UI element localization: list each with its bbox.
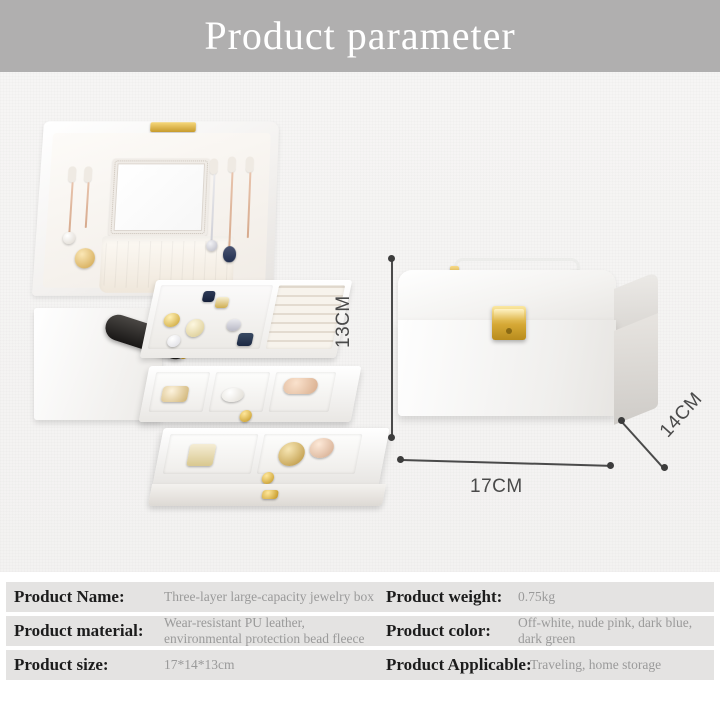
spec-label: Product weight: bbox=[386, 587, 502, 607]
flower-brooch bbox=[162, 313, 181, 327]
product-photo-area: 13CM 17CM 14CM bbox=[0, 72, 720, 572]
spec-label: Product Name: bbox=[14, 587, 125, 607]
spec-label: Product material: bbox=[14, 621, 144, 641]
spec-cell-color: Product color: Off-white, nude pink, dar… bbox=[386, 616, 716, 646]
necklace-chain bbox=[68, 182, 73, 236]
drawer-upper[interactable] bbox=[139, 366, 362, 422]
dimension-endpoint-dot bbox=[607, 462, 614, 469]
spec-value: 0.75kg bbox=[518, 589, 718, 605]
spec-cell-material: Product material: Wear-resistant PU leat… bbox=[14, 616, 384, 646]
drawer-compartment bbox=[257, 434, 363, 474]
lid-lining bbox=[43, 133, 271, 288]
spec-value: 17*14*13cm bbox=[164, 657, 384, 673]
dimension-endpoint-dot bbox=[388, 255, 395, 262]
necklace-chain bbox=[210, 174, 215, 244]
spec-value: Off-white, nude pink, dark blue, dark gr… bbox=[518, 615, 718, 647]
dimension-endpoint-dot bbox=[618, 417, 625, 424]
earring-item bbox=[214, 297, 229, 308]
spec-cell-size: Product size: 17*14*13cm bbox=[14, 650, 384, 680]
jewelry-item bbox=[282, 378, 319, 394]
base-clasp-icon bbox=[261, 490, 279, 499]
blue-gem-item bbox=[236, 333, 254, 346]
necklace-chain bbox=[85, 182, 90, 228]
spec-cell-applicable: Product Applicable: Traveling, home stor… bbox=[386, 650, 716, 680]
spec-value: Traveling, home storage bbox=[530, 657, 720, 673]
dimension-endpoint-dot bbox=[661, 464, 668, 471]
spec-label: Product Applicable: bbox=[386, 655, 532, 675]
ring-item bbox=[184, 319, 206, 337]
drawer-knob-icon[interactable] bbox=[261, 472, 275, 484]
box-lid bbox=[32, 121, 279, 296]
lid-clasp-icon bbox=[150, 122, 196, 132]
necklace-hook bbox=[68, 166, 77, 182]
drawer-knob-icon[interactable] bbox=[239, 410, 253, 422]
box-base bbox=[148, 484, 386, 506]
ring-item bbox=[166, 335, 182, 347]
box-side-panel bbox=[614, 313, 658, 425]
table-row: Product material: Wear-resistant PU leat… bbox=[6, 616, 714, 646]
blue-stone-pendant bbox=[223, 246, 237, 262]
spec-label: Product size: bbox=[14, 655, 109, 675]
tray-felt-pad bbox=[148, 285, 274, 349]
gold-clasp-icon bbox=[492, 306, 526, 340]
lid-mirror bbox=[108, 158, 210, 236]
jewelry-item bbox=[160, 386, 189, 402]
round-pendant bbox=[74, 248, 95, 268]
table-row: Product Name: Three-layer large-capacity… bbox=[6, 582, 714, 612]
drawer-lower[interactable] bbox=[152, 428, 389, 486]
spec-value: Three-layer large-capacity jewelry box bbox=[164, 589, 384, 605]
specification-table: Product Name: Three-layer large-capacity… bbox=[0, 572, 720, 704]
spec-value: Wear-resistant PU leather, environmental… bbox=[164, 615, 384, 647]
product-parameter-page: Product parameter bbox=[0, 0, 720, 704]
necklace-hook bbox=[84, 166, 93, 182]
necklace-chain bbox=[247, 172, 252, 238]
blue-gem-item bbox=[202, 291, 216, 302]
necklace-hook bbox=[245, 156, 254, 172]
spec-cell-weight: Product weight: 0.75kg bbox=[386, 582, 716, 612]
top-jewelry-tray bbox=[140, 280, 353, 358]
dimension-label-width: 17CM bbox=[470, 476, 523, 498]
page-title: Product parameter bbox=[204, 16, 515, 56]
earring-item bbox=[225, 319, 242, 331]
table-row: Product size: 17*14*13cm Product Applica… bbox=[6, 650, 714, 680]
dimension-endpoint-dot bbox=[397, 456, 404, 463]
open-jewelry-box-image bbox=[22, 112, 352, 562]
spec-cell-name: Product Name: Three-layer large-capacity… bbox=[14, 582, 384, 612]
spec-label: Product color: bbox=[386, 621, 491, 641]
page-header-banner: Product parameter bbox=[0, 0, 720, 72]
necklace-hook bbox=[228, 156, 237, 172]
dimension-label-height: 13CM bbox=[333, 295, 355, 348]
closed-jewelry-box-image bbox=[398, 252, 666, 442]
pearl-pendant bbox=[63, 232, 76, 244]
necklace-hook bbox=[210, 158, 219, 174]
dimension-line-width bbox=[401, 459, 611, 467]
watch-item bbox=[186, 444, 216, 466]
dimension-line-height bbox=[391, 258, 393, 438]
dimension-endpoint-dot bbox=[388, 434, 395, 441]
